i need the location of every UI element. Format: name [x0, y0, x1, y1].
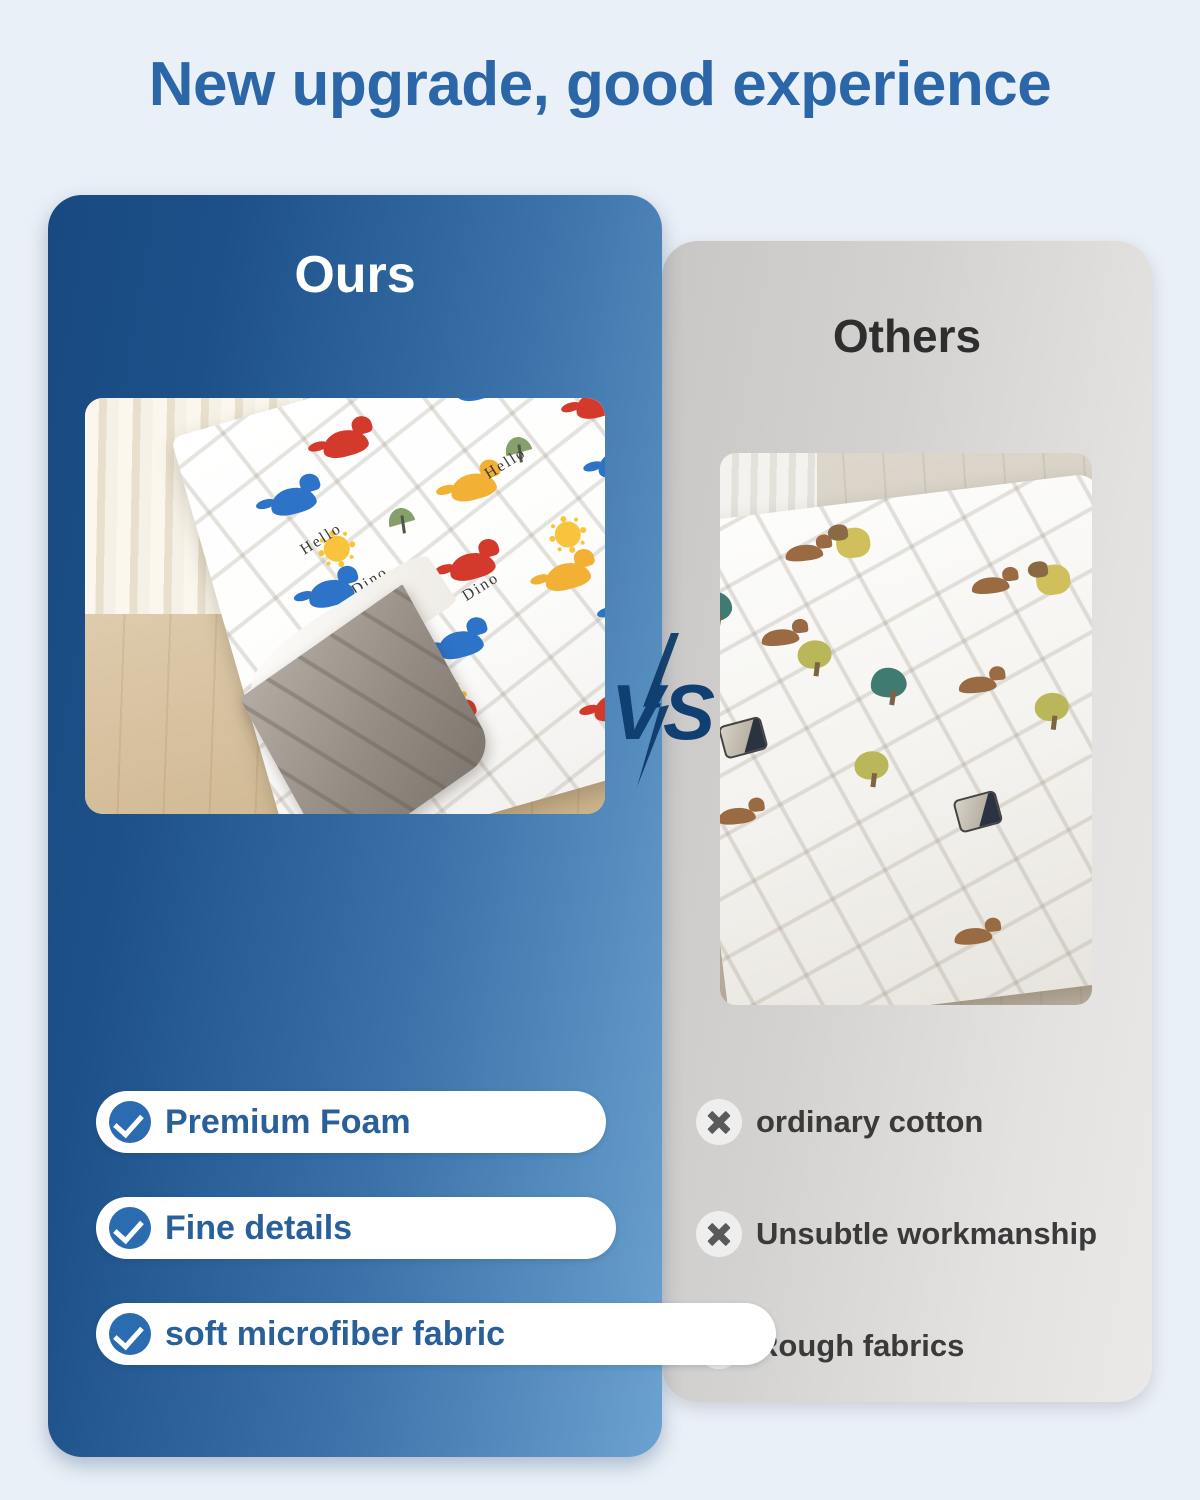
vs-badge: VS: [601, 631, 719, 789]
check-icon: [109, 1207, 151, 1249]
others-heading: Others: [662, 309, 1152, 363]
ours-feature-item: Premium Foam: [96, 1091, 606, 1153]
ours-feature-label: soft microfiber fabric: [165, 1315, 505, 1354]
ours-feature-label: Fine details: [165, 1209, 352, 1248]
x-icon: [696, 1099, 742, 1145]
others-feature-label: Rough fabrics: [756, 1328, 964, 1364]
others-product-photo: [720, 453, 1092, 1005]
others-feature-item: ordinary cotton: [696, 1094, 1156, 1150]
ours-panel: Ours: [48, 195, 662, 1457]
quilt-texture: [720, 473, 1092, 1005]
others-feature-item: Unsubtle workmanship: [696, 1206, 1156, 1262]
others-panel: Others ordinary cott: [662, 241, 1152, 1402]
others-feature-label: Unsubtle workmanship: [756, 1216, 1097, 1252]
ours-feature-item: Fine details: [96, 1197, 616, 1259]
ours-feature-item: soft microfiber fabric: [96, 1303, 776, 1365]
check-icon: [109, 1313, 151, 1355]
vs-label-text: VS: [611, 668, 715, 756]
ours-feature-label: Premium Foam: [165, 1103, 411, 1142]
ours-product-photo: Hello Hello Dino Dino Hello: [85, 398, 605, 814]
x-icon: [696, 1211, 742, 1257]
check-icon: [109, 1101, 151, 1143]
ours-feature-list: Premium Foam Fine details soft microfibe…: [96, 1091, 616, 1365]
ours-heading: Ours: [48, 245, 662, 305]
others-mat: [720, 473, 1092, 1005]
others-feature-label: ordinary cotton: [756, 1104, 983, 1140]
page-title: New upgrade, good experience: [0, 52, 1200, 117]
